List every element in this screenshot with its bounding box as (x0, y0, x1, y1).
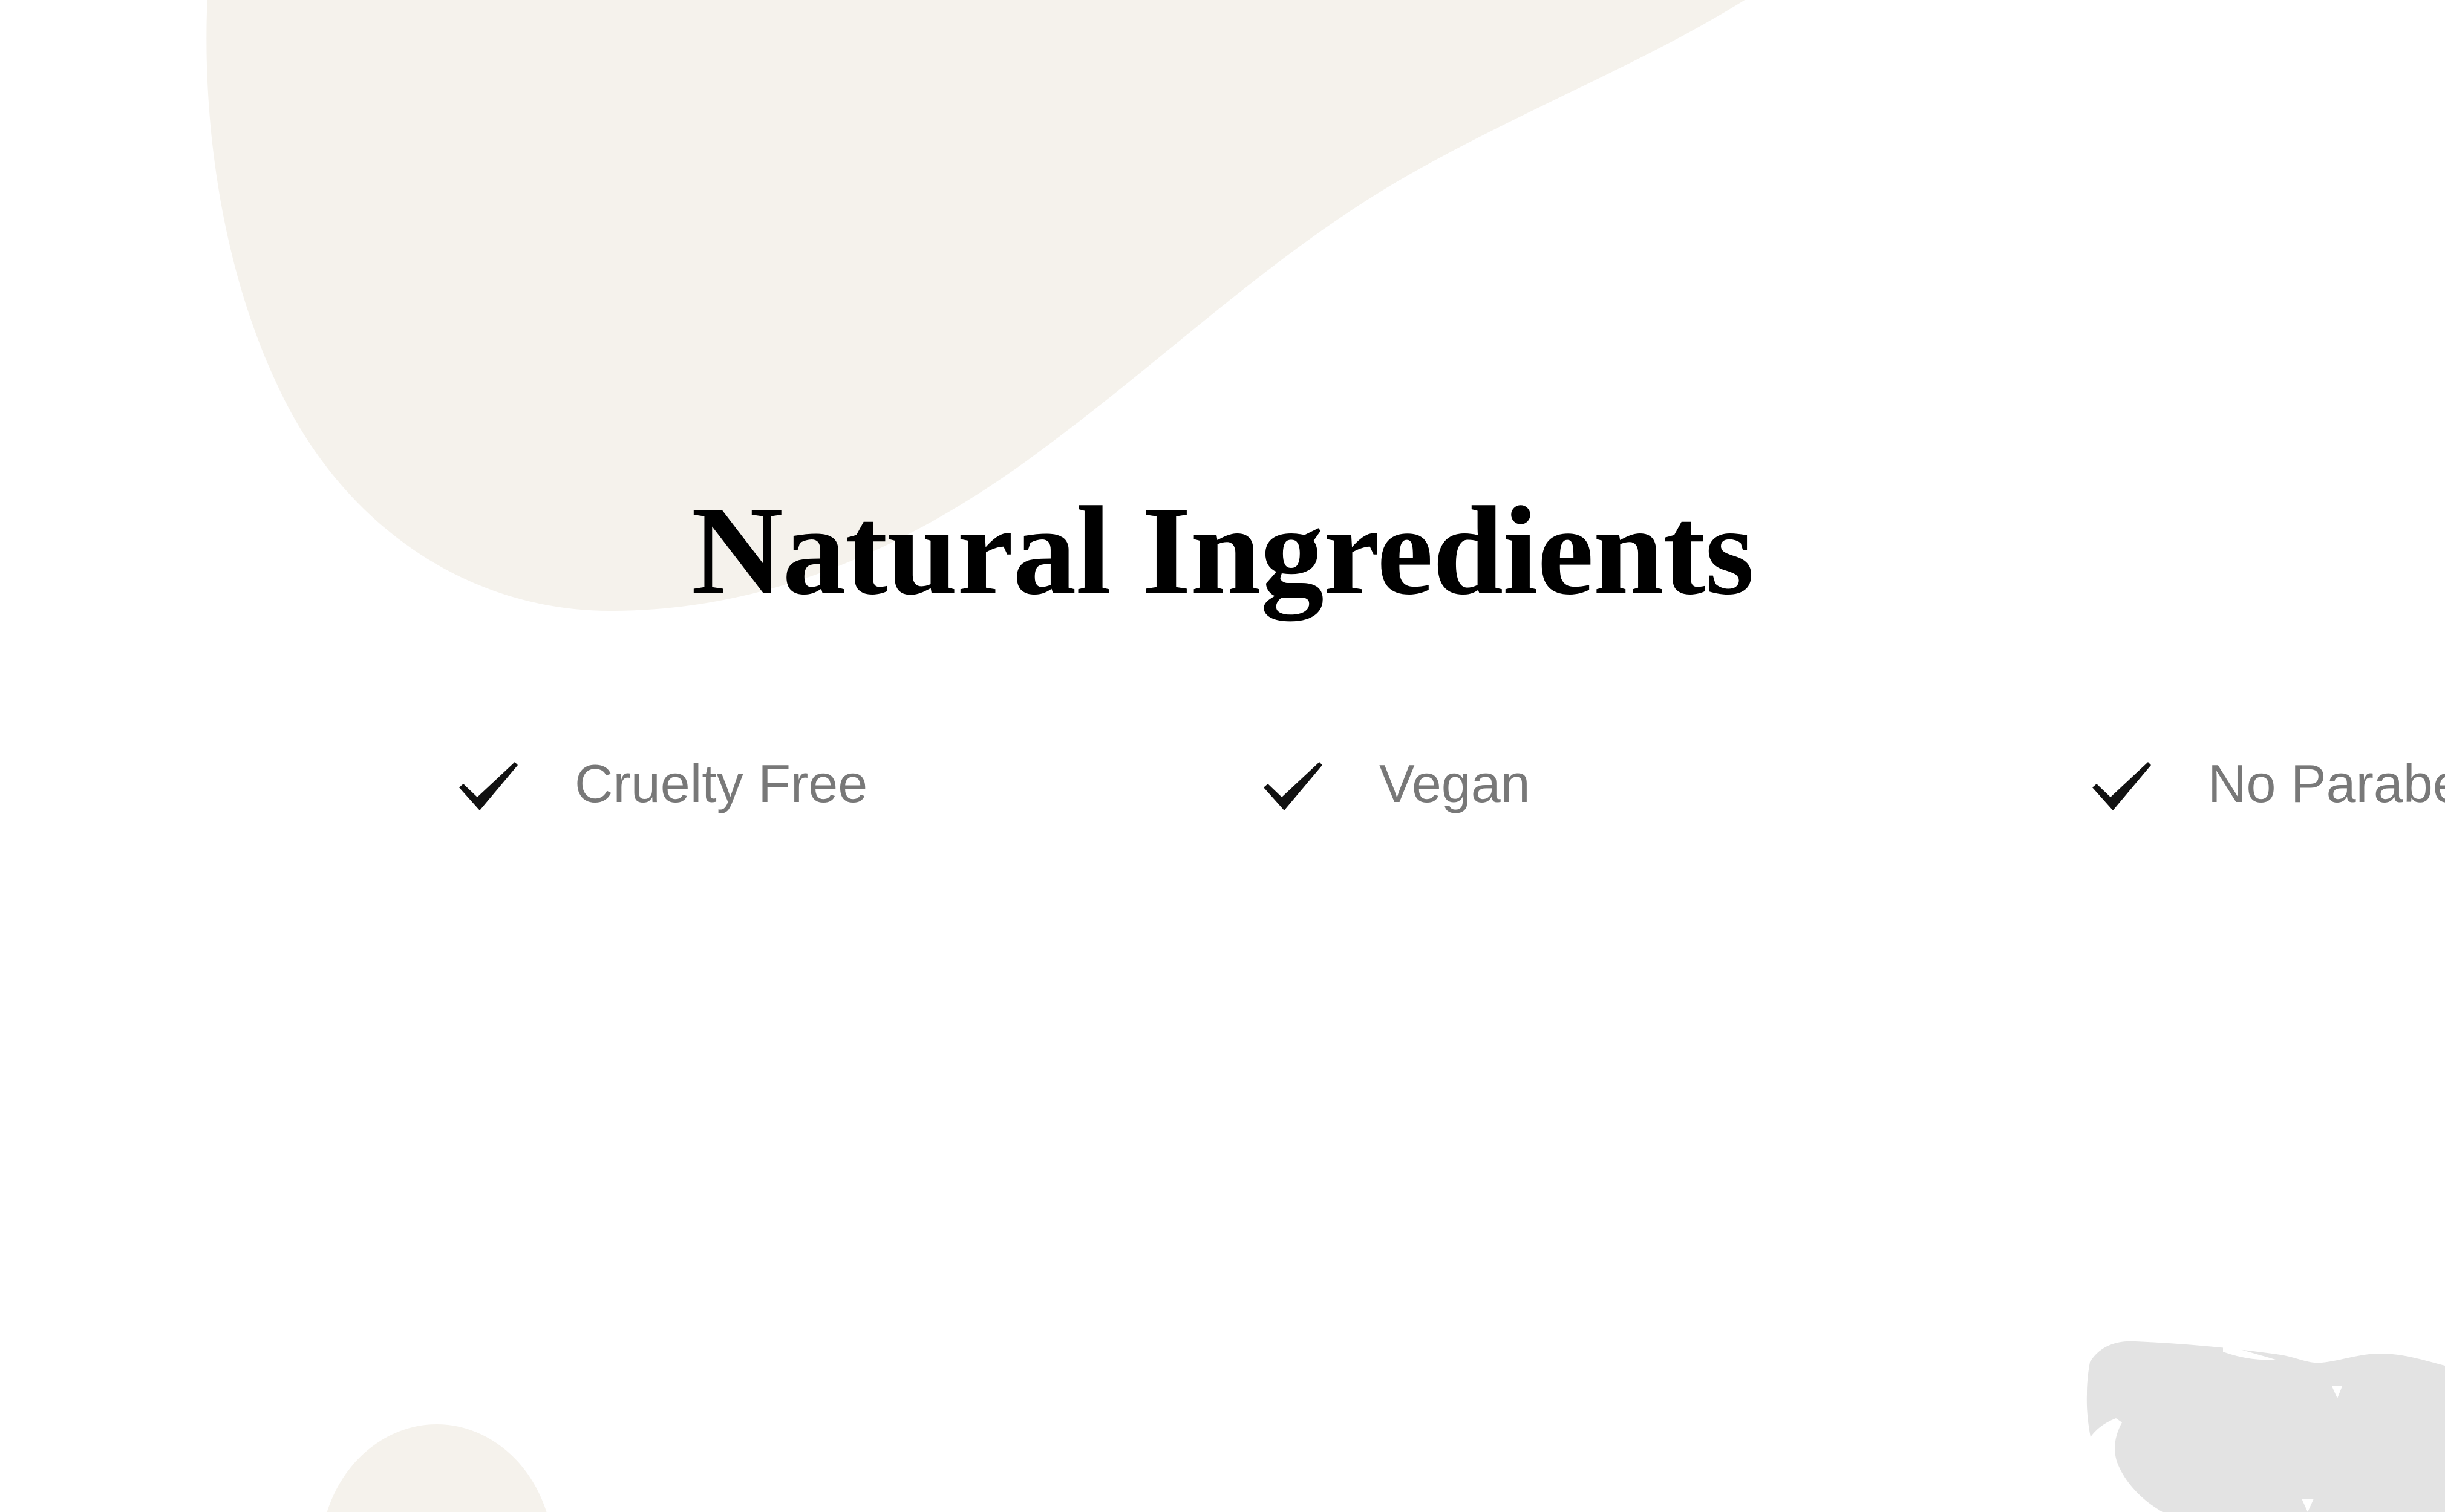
gray-brush-stroke-bottom-right-shape (2087, 1341, 2445, 1512)
checklist-item-label: Vegan (1379, 755, 2090, 813)
gray-brush-stroke-notch-b (2302, 1499, 2314, 1512)
checklist-item-no-parabens: No Parabens (2090, 755, 2445, 859)
checklist-item-cruelty-free: Cruelty Free (457, 755, 1261, 859)
check-icon (1261, 757, 1325, 818)
checklist-item-vegan: Vegan (1261, 755, 2090, 859)
cream-circle-bottom-left-shape (320, 1424, 553, 1512)
ingredient-checklist: Cruelty Free Vegan No Parabens (457, 755, 2090, 859)
page-title: Natural Ingredients (0, 484, 2445, 618)
check-icon (457, 757, 520, 818)
gray-brush-stroke-notch-c (2223, 1344, 2276, 1360)
gray-brush-stroke-notch-a (2332, 1386, 2342, 1398)
checklist-item-label: Cruelty Free (575, 755, 1261, 813)
checklist-item-label: No Parabens (2208, 755, 2445, 813)
check-icon (2090, 757, 2153, 818)
slide-canvas: Natural Ingredients Cruelty Free Vegan (0, 0, 2445, 1512)
